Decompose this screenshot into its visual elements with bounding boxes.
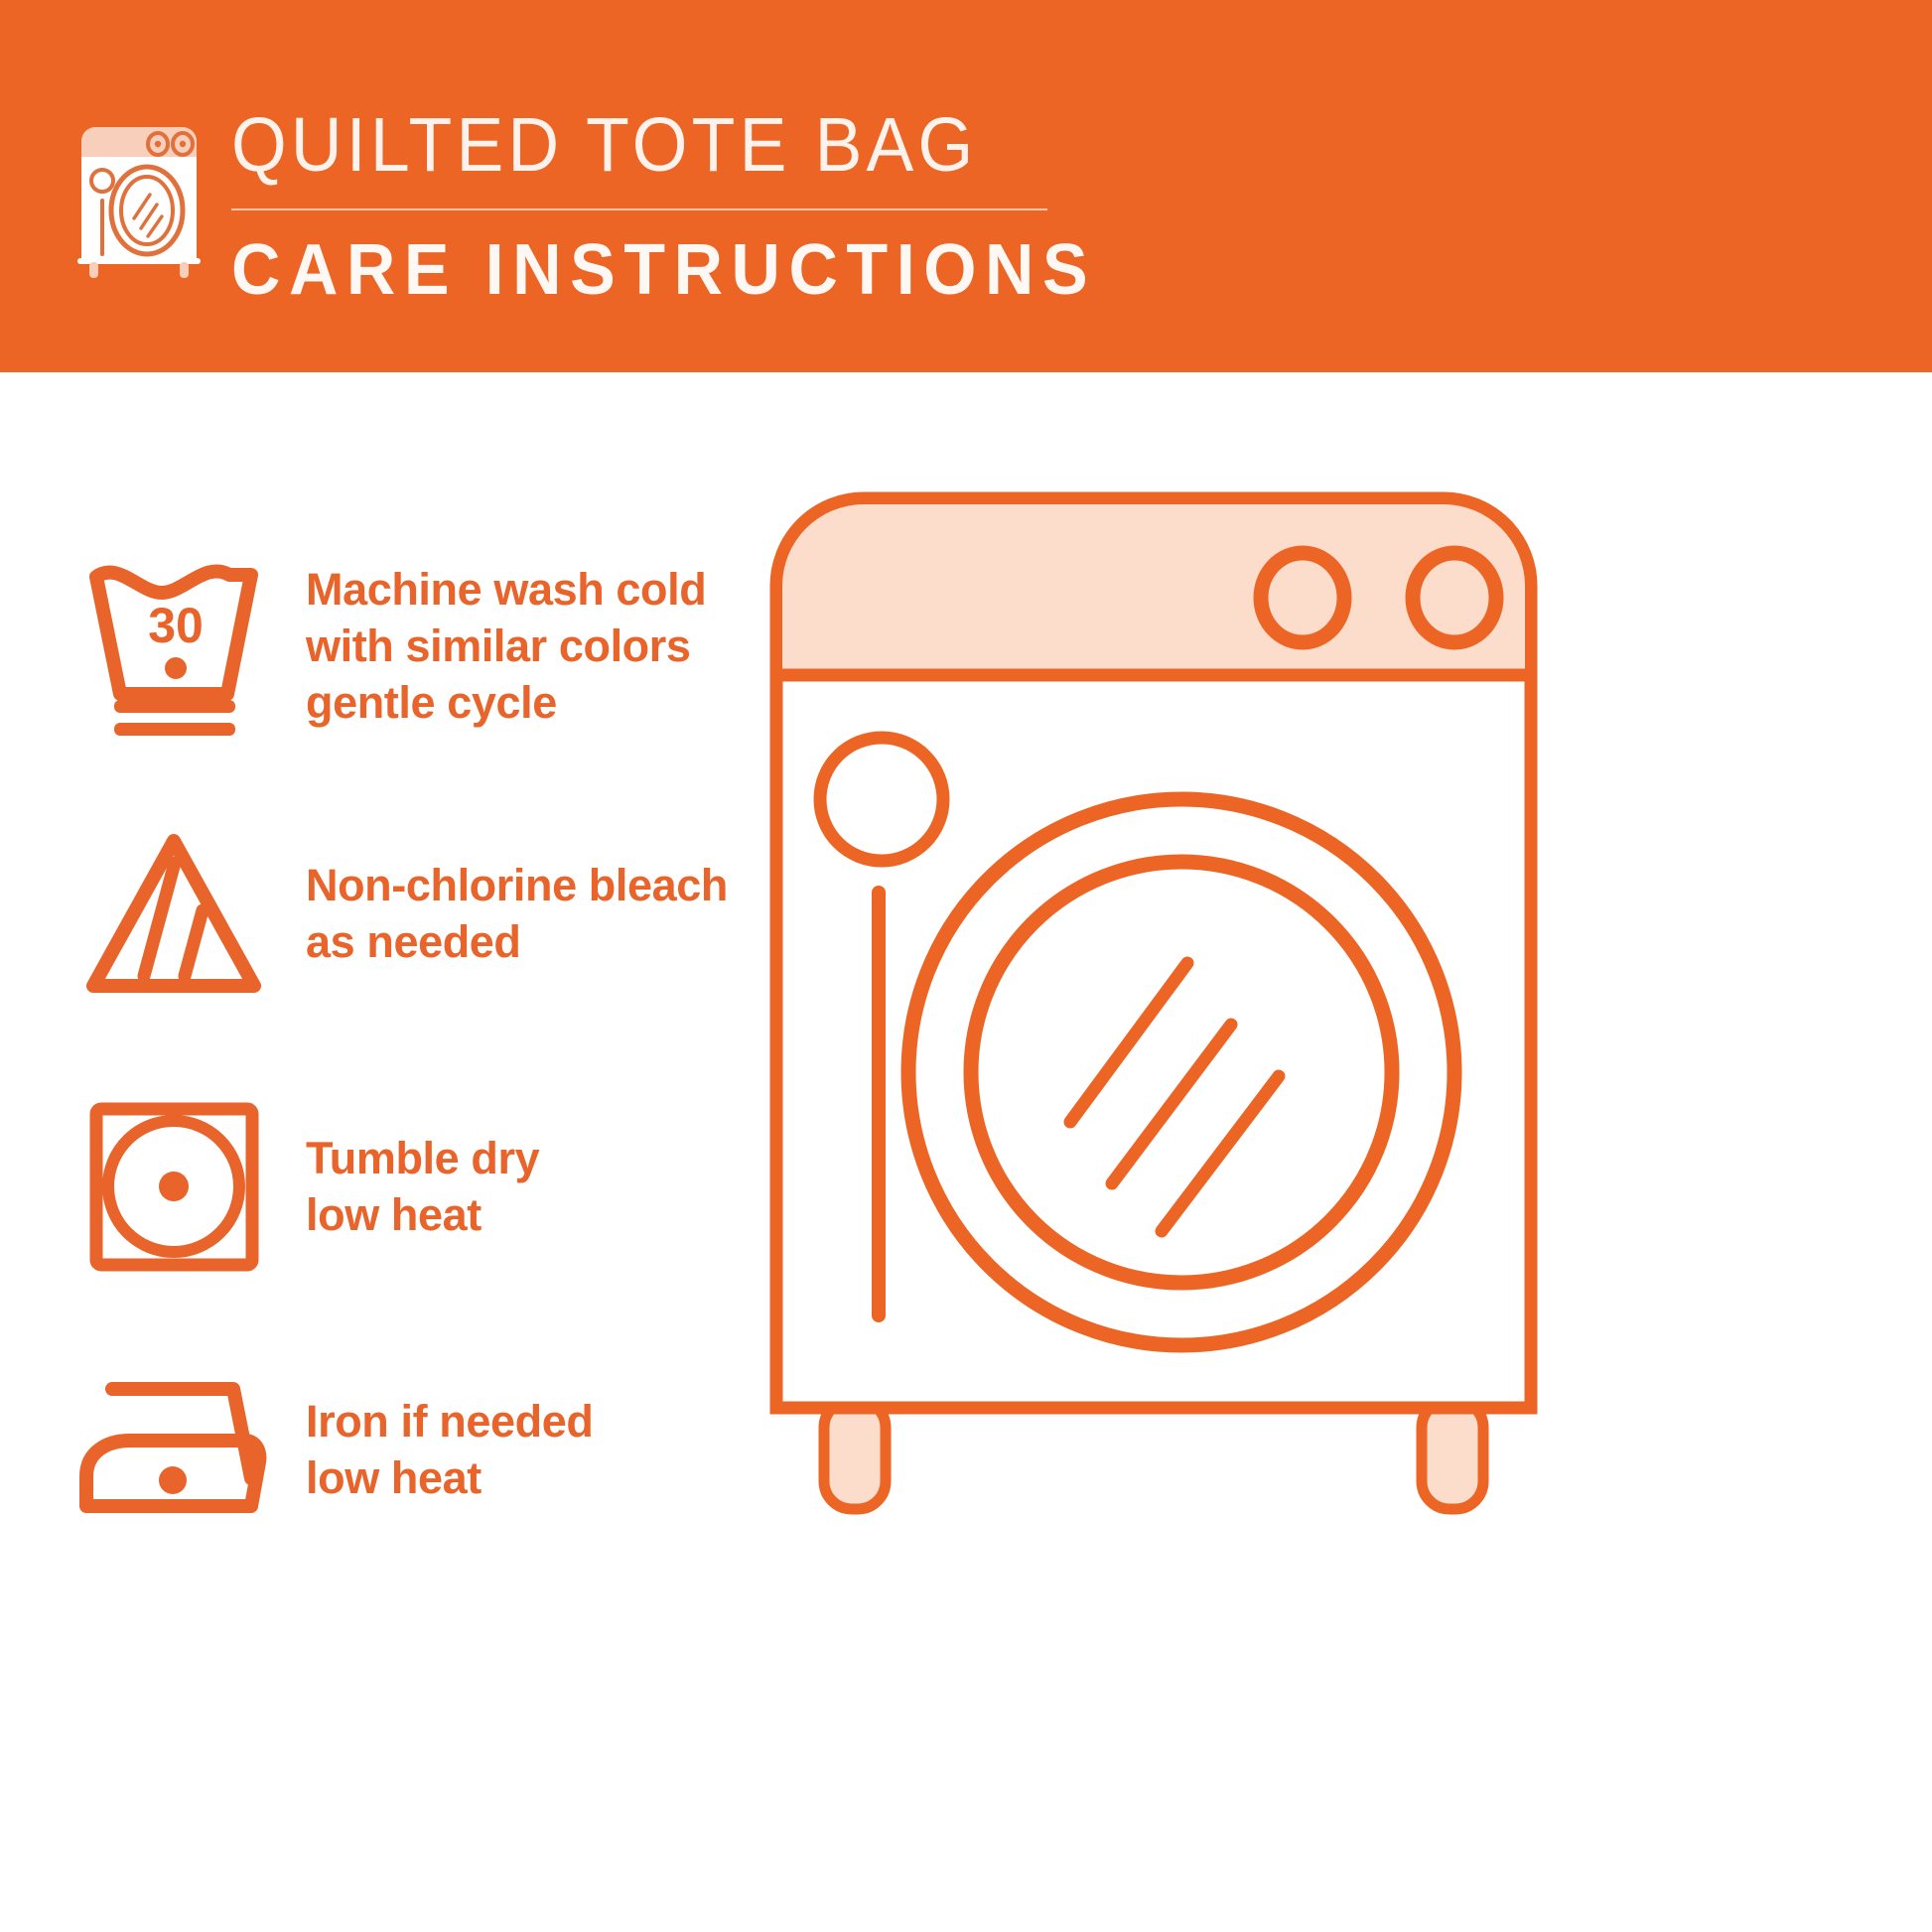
iron-icon (69, 1350, 278, 1549)
wash-basin-icon: 30 (69, 546, 278, 745)
bleach-stripe-2 (185, 910, 203, 976)
washer-foot-right (1422, 1400, 1483, 1509)
care-label-bleach: Non-chlorine bleach as needed (306, 857, 728, 970)
care-label-iron: Iron if needed low heat (306, 1393, 593, 1506)
care-label-line: low heat (306, 1449, 593, 1506)
care-row-iron: Iron if needed low heat (0, 1350, 814, 1549)
care-label-line: with similar colors (306, 618, 706, 674)
washing-machine-icon (71, 111, 207, 278)
care-row-bleach: Non-chlorine bleach as needed (0, 814, 814, 1013)
title-divider (231, 208, 1047, 210)
bleach-triangle-icon (69, 814, 278, 1013)
care-label-tumble-dry: Tumble dry low heat (306, 1130, 539, 1243)
page-title: QUILTED TOTE BAG (231, 103, 1155, 187)
header-banner: QUILTED TOTE BAG CARE INSTRUCTIONS (0, 0, 1932, 372)
care-instructions-page: QUILTED TOTE BAG CARE INSTRUCTIONS 30 (0, 0, 1932, 1932)
washing-machine-illustration (755, 477, 1549, 1529)
wash-temperature-text: 30 (148, 598, 204, 653)
care-label-line: Iron if needed (306, 1393, 593, 1449)
care-label-line: gentle cycle (306, 674, 706, 731)
care-label-line: low heat (306, 1186, 539, 1243)
gentle-bar-1 (114, 700, 235, 713)
care-label-wash: Machine wash cold with similar colors ge… (306, 561, 706, 731)
tumble-dry-dot (159, 1172, 189, 1201)
washer-foot-left (824, 1400, 886, 1509)
care-label-line: Tumble dry (306, 1130, 539, 1186)
page-subtitle: CARE INSTRUCTIONS (231, 230, 1174, 310)
washer-dial-2 (1413, 553, 1496, 642)
care-row-tumble-dry: Tumble dry low heat (0, 1087, 814, 1286)
care-label-line: as needed (306, 913, 728, 970)
wash-dot (165, 657, 187, 679)
gentle-bar-2 (114, 723, 235, 736)
care-label-line: Non-chlorine bleach (306, 857, 728, 913)
washer-dial-1 (1261, 553, 1344, 642)
care-row-wash: 30 Machine wash cold with similar colors… (0, 546, 814, 745)
care-label-line: Machine wash cold (306, 561, 706, 618)
header-text-block: QUILTED TOTE BAG CARE INSTRUCTIONS (231, 103, 1224, 310)
tumble-dry-icon (69, 1087, 278, 1286)
washer-side-bar (872, 886, 886, 1322)
care-instruction-list: 30 Machine wash cold with similar colors… (0, 372, 814, 1932)
iron-dot (159, 1466, 187, 1494)
